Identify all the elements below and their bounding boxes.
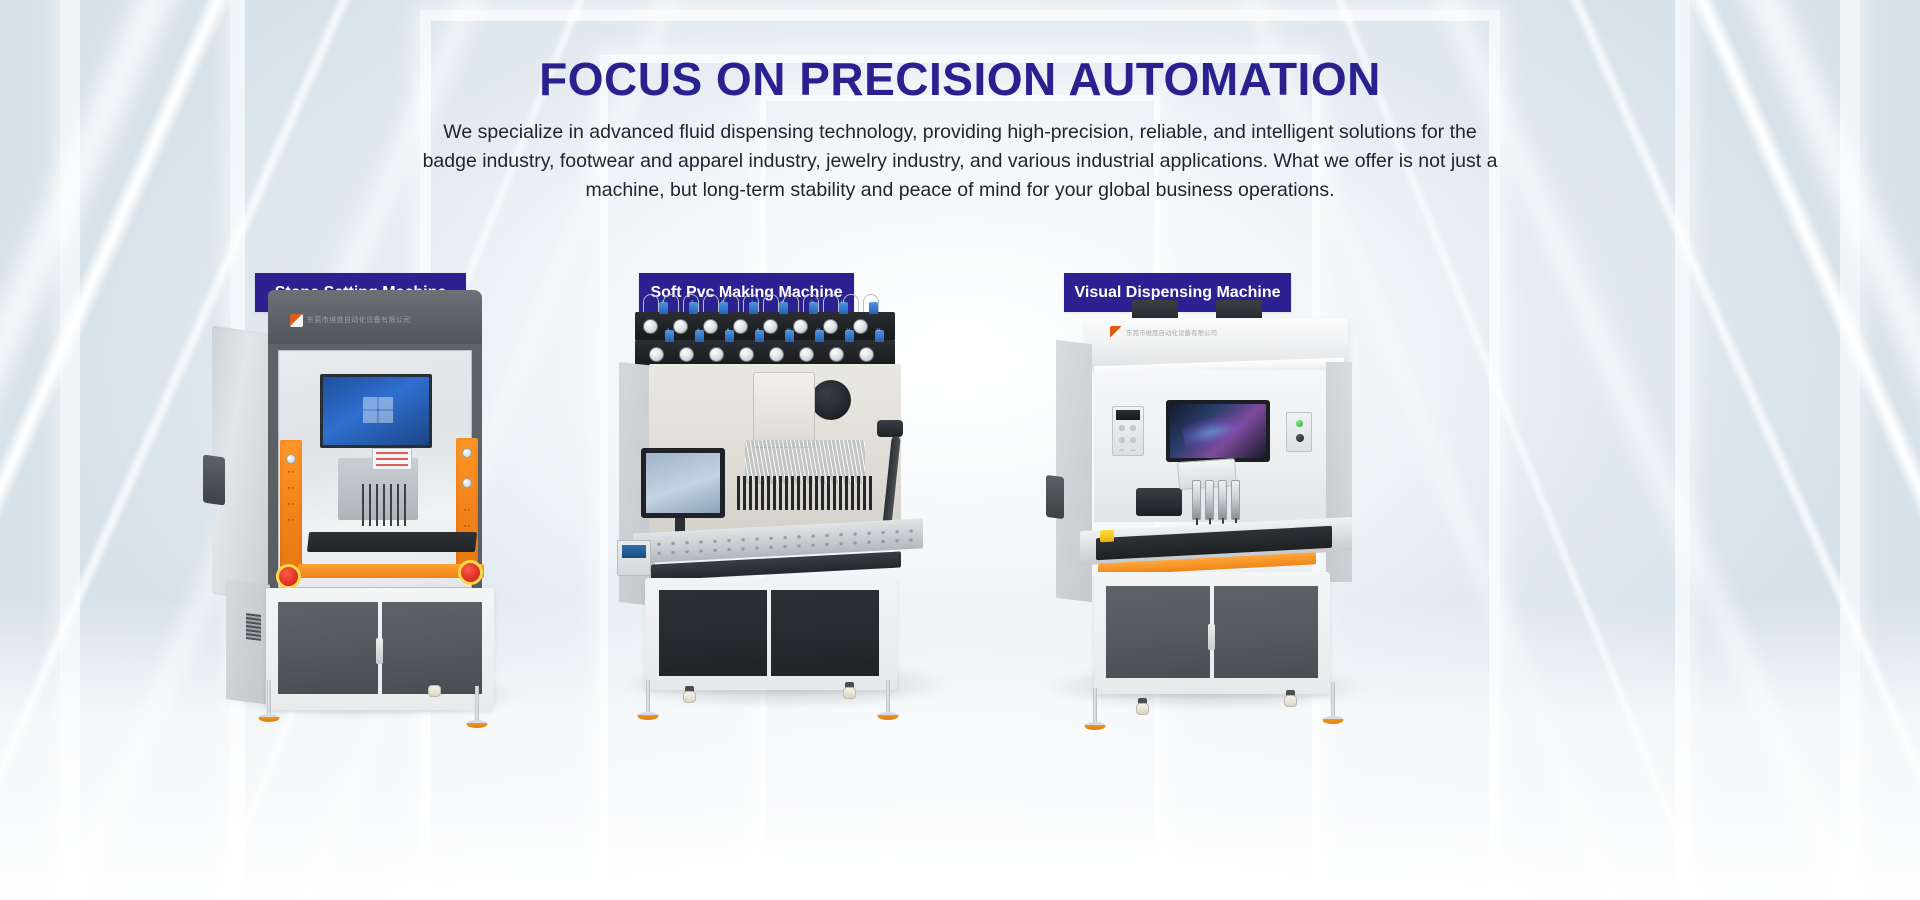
cabinet-door-left[interactable] (278, 602, 378, 694)
machine-valve-array (1192, 476, 1242, 520)
hero-banner: FOCUS ON PRECISION AUTOMATION We special… (0, 0, 1920, 900)
work-lamp-head (877, 420, 903, 437)
status-indicator-green (1296, 420, 1303, 427)
machine-keypad-panel[interactable] (1112, 406, 1144, 456)
caster-wheel-2 (843, 682, 856, 699)
caster-wheel-1 (683, 686, 696, 703)
machine-monitor-screen (1166, 400, 1270, 462)
leveling-foot-2 (877, 680, 899, 720)
machine-base-cabinet (266, 588, 494, 710)
machine-vision-camera (1136, 488, 1182, 516)
monitor-stand (675, 518, 685, 532)
machine-dispensing-nozzles (362, 484, 406, 526)
machine-vent-grille (246, 613, 261, 641)
machine-side-control-panel[interactable] (617, 540, 651, 576)
leveling-foot-1 (637, 680, 659, 720)
company-logo-icon (1110, 326, 1122, 338)
workpiece-marker (1100, 530, 1114, 543)
machine-base-cabinet (645, 578, 897, 690)
leveling-foot-2 (1322, 682, 1344, 724)
intro-paragraph: We specialize in advanced fluid dispensi… (420, 118, 1500, 205)
brand-text-cn: 东莞市维度自动化设备有限公司 (307, 315, 411, 325)
machine-front-orange-bar (298, 564, 484, 578)
floor-sheen (0, 720, 1920, 900)
caster-wheel-1 (308, 694, 321, 711)
cabinet-door-left[interactable] (1106, 586, 1210, 678)
machine-brand-plate: 东莞市维度自动化设备有限公司 (268, 310, 482, 330)
cabinet-door-right[interactable] (1214, 586, 1318, 678)
leveling-foot-1 (258, 680, 280, 722)
machine-image-visual-dispensing-machine[interactable]: 东莞市维度自动化设备有限公司 (1040, 300, 1370, 700)
machine-left-control-pillar[interactable]: ● ● ● ● ● ● ● ● (280, 440, 302, 568)
cabinet-door-handle[interactable] (1208, 624, 1215, 650)
machine-indicator-panel[interactable] (1286, 412, 1312, 452)
caster-wheel-2 (428, 680, 441, 697)
machine-image-stone-setting-machine[interactable]: 东莞市维度自动化设备有限公司 ● ● ● ● ● ● ● ● ● ● ● ● ●… (212, 288, 502, 708)
cabinet-door-right[interactable] (771, 590, 879, 676)
caster-wheel-2 (1284, 690, 1297, 707)
leveling-foot-1 (1084, 688, 1106, 730)
leveling-foot-2 (466, 686, 488, 728)
page-title: FOCUS ON PRECISION AUTOMATION (0, 52, 1920, 106)
machine-side-handle (1046, 475, 1064, 519)
machine-work-bed (307, 532, 477, 552)
machine-needle-array (737, 476, 873, 510)
brand-text-cn: 东莞市维度自动化设备有限公司 (1126, 327, 1217, 337)
company-logo-icon (290, 314, 303, 327)
machine-brand-plate: 东莞市维度自动化设备有限公司 (1096, 324, 1296, 340)
machine-base-cabinet (1094, 572, 1330, 694)
machine-dispensing-head (753, 372, 815, 448)
machine-image-soft-pvc-making-machine[interactable]: 1 3 5 7 9 11 13 15 2 4 6 8 10 12 14 16 (605, 290, 960, 700)
power-button[interactable] (1296, 434, 1304, 442)
machine-control-module (372, 448, 412, 470)
machine-side-handle (203, 454, 225, 505)
caster-wheel-1 (1136, 698, 1149, 715)
machine-fan-wheel (811, 380, 851, 420)
machine-monitor-screen (320, 374, 432, 448)
cabinet-door-left[interactable] (659, 590, 767, 676)
pressure-gauge-bar-top: 1 3 5 7 9 11 13 15 (635, 312, 895, 341)
emergency-stop-button-right[interactable] (458, 560, 483, 585)
machine-lcd-monitor (641, 448, 725, 518)
emergency-stop-button-left[interactable] (276, 564, 301, 589)
cabinet-door-handle[interactable] (376, 638, 383, 664)
